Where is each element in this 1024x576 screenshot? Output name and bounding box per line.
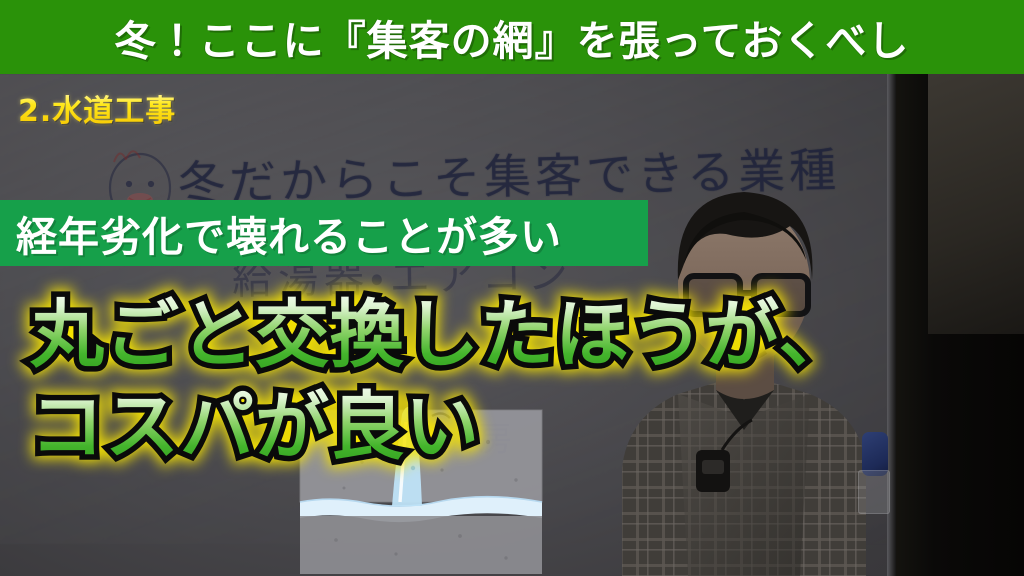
mid-banner-text: 経年劣化で壊れることが多い <box>16 203 562 263</box>
top-banner: 冬！ここに『集客の網』を張っておくべし <box>0 0 1024 74</box>
big-caption-line1-fill: 丸ごと交換したほうが、 <box>30 292 854 378</box>
mid-banner: 経年劣化で壊れることが多い <box>0 200 648 266</box>
dark-wall-panel <box>928 74 1024 334</box>
big-caption-line2: コスパが良い コスパが良い コスパが良い <box>30 388 910 468</box>
big-caption-line2-fill: コスパが良い <box>30 384 480 470</box>
section-label: 2.水道工事 <box>18 86 176 130</box>
top-banner-title: 冬！ここに『集客の網』を張っておくべし <box>115 7 910 67</box>
big-caption-line1: 丸ごと交換したほうが、 丸ごと交換したほうが、 丸ごと交換したほうが、 <box>30 296 910 376</box>
video-frame: 冬だからこそ集客できる業種 給湯器・エアコン 床暖房 <box>0 0 1024 576</box>
big-caption: 丸ごと交換したほうが、 丸ごと交換したほうが、 丸ごと交換したほうが、 コスパが… <box>30 296 910 480</box>
